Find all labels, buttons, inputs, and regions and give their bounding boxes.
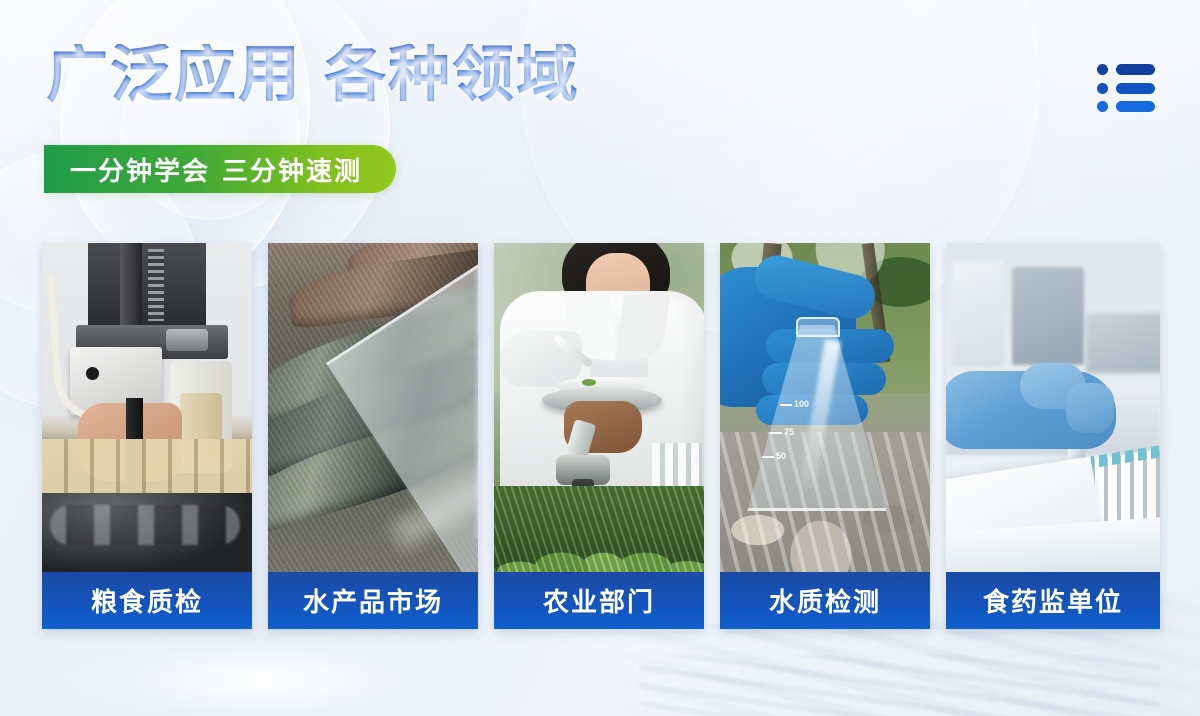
- tagline-badge: 一分钟学会三分钟速测: [44, 145, 396, 193]
- card-photo: [946, 243, 1160, 572]
- application-card[interactable]: 食药监单位: [946, 243, 1160, 629]
- list-icon-bar: [1116, 83, 1155, 94]
- seafood-market-photo: [268, 243, 478, 572]
- card-label-text: 农业部门: [543, 582, 655, 619]
- card-label: 水产品市场: [268, 572, 478, 629]
- card-label-text: 水质检测: [769, 582, 881, 619]
- card-label-text: 水产品市场: [303, 582, 443, 619]
- promo-banner: 广泛应用各种领域 一分钟学会三分钟速测: [0, 0, 1200, 716]
- headline-part-1: 广泛应用: [46, 40, 302, 109]
- list-icon[interactable]: [1097, 64, 1155, 112]
- list-icon-dot: [1097, 64, 1108, 75]
- application-card[interactable]: 100 75 50 水质检测: [720, 243, 930, 629]
- banner-headline: 广泛应用各种领域: [46, 44, 580, 106]
- water-splash-decoration: [0, 620, 520, 716]
- card-label: 粮食质检: [42, 572, 252, 629]
- list-icon-row: [1097, 101, 1155, 112]
- headline-part-2: 各种领域: [324, 40, 580, 109]
- tagline-part-2: 三分钟速测: [222, 156, 362, 186]
- list-icon-bar: [1116, 101, 1155, 112]
- application-card-list: 粮食质检 水产品市场: [42, 243, 1158, 629]
- list-icon-row: [1097, 64, 1155, 75]
- card-label: 水质检测: [720, 572, 930, 629]
- top-sheen-overlay: [0, 0, 1200, 230]
- drug-administration-lab-photo: [946, 243, 1160, 572]
- list-icon-dot: [1097, 101, 1108, 112]
- grain-inspection-photo: [42, 243, 252, 572]
- flask-marking-50: 50: [776, 451, 786, 461]
- card-photo: [42, 243, 252, 572]
- card-photo: [494, 243, 704, 572]
- list-icon-bar: [1116, 64, 1155, 75]
- card-label: 农业部门: [494, 572, 704, 629]
- card-label: 食药监单位: [946, 572, 1160, 629]
- water-testing-photo: 100 75 50: [720, 243, 930, 572]
- list-icon-row: [1097, 83, 1155, 94]
- card-label-text: 粮食质检: [91, 582, 203, 619]
- flask-marking-100: 100: [794, 399, 809, 409]
- agriculture-lab-photo: [494, 243, 704, 572]
- application-card[interactable]: 农业部门: [494, 243, 704, 629]
- card-label-text: 食药监单位: [983, 582, 1123, 619]
- flask-marking-75: 75: [784, 427, 794, 437]
- list-icon-dot: [1097, 83, 1108, 94]
- tagline-part-1: 一分钟学会: [70, 156, 210, 186]
- application-card[interactable]: 粮食质检: [42, 243, 252, 629]
- ice-texture-decoration: [640, 655, 1160, 716]
- card-photo: [268, 243, 478, 572]
- application-card[interactable]: 水产品市场: [268, 243, 478, 629]
- card-photo: 100 75 50: [720, 243, 930, 572]
- tagline-badge-text: 一分钟学会三分钟速测: [70, 151, 362, 188]
